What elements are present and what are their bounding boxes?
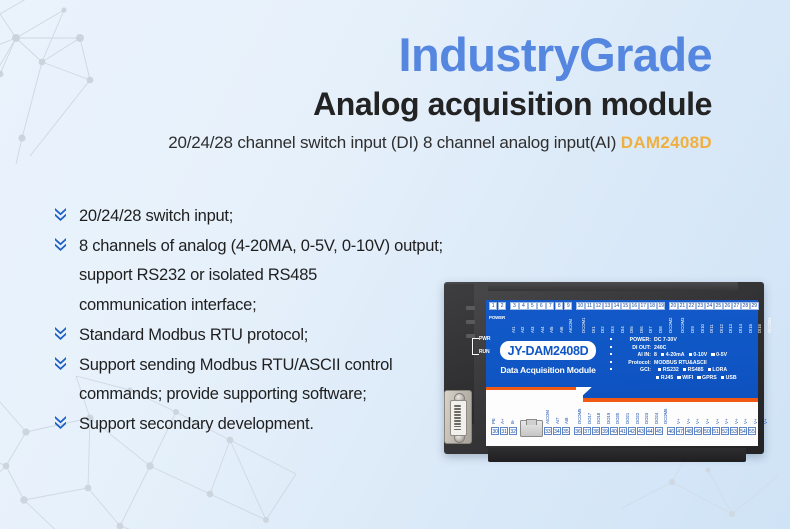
terminal-label: DI6 <box>639 311 648 333</box>
list-item: 8 channels of analog (4-20MA, 0-5V, 0-10… <box>52 233 472 260</box>
terminal-label: V+ <box>686 404 695 424</box>
list-item-continuation: commands; provide supporting software; <box>52 381 472 408</box>
terminal-label: AICOM <box>546 404 555 424</box>
spec-key: POWER: <box>615 337 651 343</box>
led-label-run: RUN <box>479 349 490 355</box>
spec-value: DC 7-30V <box>654 337 677 343</box>
terminal-number: 11 <box>585 302 593 310</box>
spec-key: DI OUT: <box>615 345 651 351</box>
terminal-number: 46 <box>667 427 675 435</box>
terminal-label: DO19 <box>606 404 615 424</box>
page-subtitle: Analog acquisition module <box>0 84 712 124</box>
terminal-number: 6 <box>537 302 545 310</box>
chevron-double-down-icon <box>52 233 69 254</box>
terminal-number: 15 <box>621 302 629 310</box>
terminal-number: 50 <box>703 427 711 435</box>
terminal-label: V+ <box>753 404 762 424</box>
terminal-number: 35 <box>562 427 570 435</box>
terminal-label: DCOM3 <box>681 311 690 333</box>
terminal-number: 14 <box>612 302 620 310</box>
spec-option-label: 0-10V <box>693 352 707 358</box>
terminal-number: 40 <box>610 427 618 435</box>
terminal-label: DI7 <box>649 311 658 333</box>
chevron-double-down-icon <box>52 411 69 432</box>
terminal-number: 37 <box>583 427 591 435</box>
spec-option-label: GPRS <box>702 375 717 381</box>
terminal-label: DI11 <box>710 311 719 333</box>
terminal-number: 24 <box>705 302 713 310</box>
feature-text: 8 channels of analog (4-20MA, 0-5V, 0-10… <box>79 233 443 260</box>
terminal-label: DI1 <box>591 311 600 333</box>
list-item: Support sending Modbus RTU/ASCII control <box>52 352 472 379</box>
checkbox-icon <box>683 368 686 371</box>
bullet-dot-icon <box>610 353 612 355</box>
terminal-label: DI5 <box>630 311 639 333</box>
product-device-image: 1234567891011121314151617181920212223242… <box>428 276 786 458</box>
list-item: Support secondary development. <box>52 411 472 438</box>
terminal-label: AI4 <box>540 311 549 333</box>
spec-row: POWER:DC 7-30V <box>610 337 760 343</box>
page-title: IndustryGrade <box>0 30 712 80</box>
led-label-pwr: PWR <box>479 336 490 342</box>
spec-key: Protocol: <box>615 360 651 366</box>
device-model-description: Data Acquisition Module <box>496 365 600 375</box>
terminal-number: 21 <box>678 302 686 310</box>
bullet-dot-icon <box>610 368 612 370</box>
terminal-label: DCOM2 <box>668 311 677 333</box>
device-spec-list: POWER:DC 7-30VDI OUT:240CAI IN:84-20mA0-… <box>610 337 760 383</box>
spec-option-label: RJ45 <box>661 375 673 381</box>
terminal-number: 4 <box>519 302 527 310</box>
chassis-vent-1 <box>466 306 475 310</box>
spec-option-label: USB <box>726 375 737 381</box>
terminal-label: DI10 <box>700 311 709 333</box>
top-terminal-labels: POWERAI1AI2AI3AI4AI5AI6AICOMDCOM1DI1DI2D… <box>489 311 776 333</box>
terminal-number: 8 <box>555 302 563 310</box>
tagline-model-number: DAM2408D <box>621 133 712 152</box>
terminal-label: DI4 <box>620 311 629 333</box>
terminal-number: 20 <box>669 302 677 310</box>
db9-serial-connector <box>444 390 472 444</box>
terminal-number: 36 <box>574 427 582 435</box>
terminal-number: 18 <box>648 302 656 310</box>
terminal-number: 39 <box>601 427 609 435</box>
terminal-number: 25 <box>714 302 722 310</box>
terminal-label: AICOM <box>569 311 578 333</box>
terminal-label: V+ <box>763 404 772 424</box>
terminal-number: 33 <box>544 427 552 435</box>
banner-headings: IndustryGrade Analog acquisition module … <box>0 30 712 153</box>
terminal-label: AI7 <box>555 404 564 424</box>
terminal-number: 31 <box>500 427 508 435</box>
list-item: Standard Modbus RTU protocol; <box>52 322 472 349</box>
spec-row: DI OUT:240C <box>610 345 760 351</box>
terminal-label: DI12 <box>719 311 728 333</box>
checkbox-icon <box>689 353 692 356</box>
terminal-number: 34 <box>553 427 561 435</box>
terminal-label: DI13 <box>729 311 738 333</box>
terminal-label: A+ <box>501 404 510 424</box>
terminal-number: 53 <box>730 427 738 435</box>
feature-text: Support sending Modbus RTU/ASCII control <box>79 352 392 379</box>
terminal-number: 16 <box>630 302 638 310</box>
terminal-label: DO22 <box>635 404 644 424</box>
db9-pins <box>454 405 463 430</box>
terminal-label: DCOM5 <box>578 404 587 424</box>
feature-text: communication interface; <box>79 292 256 319</box>
spec-option-label: RS232 <box>663 367 679 373</box>
terminal-number: 13 <box>603 302 611 310</box>
terminal-number: 1 <box>489 302 497 310</box>
terminal-label: V+ <box>677 404 686 424</box>
spec-key: GCI: <box>615 367 651 373</box>
terminal-label: AI3 <box>531 311 540 333</box>
banner-tagline: 20/24/28 channel switch input (DI) 8 cha… <box>0 133 712 153</box>
terminal-number: 19 <box>657 302 665 310</box>
terminal-number: 38 <box>592 427 600 435</box>
chevron-double-down-icon <box>52 203 69 224</box>
terminal-number: 12 <box>594 302 602 310</box>
terminal-number: 22 <box>687 302 695 310</box>
feature-text: support RS232 or isolated RS485 <box>79 262 317 289</box>
terminal-label: AI2 <box>521 311 530 333</box>
list-item-continuation: communication interface; <box>52 292 472 319</box>
terminal-label: V+ <box>705 404 714 424</box>
terminal-number: 5 <box>528 302 536 310</box>
terminal-label: AI8 <box>565 404 574 424</box>
spec-row: AI IN:84-20mA0-10V0-5V <box>610 352 760 358</box>
terminal-label: DI14 <box>738 311 747 333</box>
terminal-panel-notch <box>486 390 583 402</box>
terminal-label: V+ <box>696 404 705 424</box>
bullet-dot-icon <box>610 346 612 348</box>
feature-text: Standard Modbus RTU protocol; <box>79 322 308 349</box>
terminal-label: DI8 <box>658 311 667 333</box>
terminal-number: 47 <box>676 427 684 435</box>
spec-value: MODBUS RTU&ASCII <box>654 360 707 366</box>
terminal-label: DCOM1 <box>582 311 591 333</box>
feature-text: Support secondary development. <box>79 411 314 438</box>
terminal-number: 49 <box>694 427 702 435</box>
db9-pin-housing <box>450 400 467 436</box>
terminal-label: DCOM4 <box>767 311 776 333</box>
terminal-panel-diagonal <box>576 387 592 402</box>
spec-value: 8 <box>654 352 657 358</box>
terminal-number: 23 <box>696 302 704 310</box>
checkbox-icon <box>656 376 659 379</box>
terminal-number: 26 <box>723 302 731 310</box>
terminal-number: 27 <box>732 302 740 310</box>
led-bracket <box>472 338 479 355</box>
terminal-number: 9 <box>564 302 572 310</box>
terminal-label: V+ <box>715 404 724 424</box>
terminal-number: 48 <box>685 427 693 435</box>
tagline-text: 20/24/28 channel switch input (DI) 8 cha… <box>168 133 621 152</box>
device-chassis: 1234567891011121314151617181920212223242… <box>444 282 764 454</box>
terminal-label: B- <box>510 404 519 424</box>
terminal-label: POWER <box>489 311 498 333</box>
terminal-number: 30 <box>491 427 499 435</box>
terminal-number: 17 <box>639 302 647 310</box>
terminal-label: V+ <box>725 404 734 424</box>
chevron-double-down-icon <box>52 322 69 343</box>
feature-text: 20/24/28 switch input; <box>79 203 233 230</box>
terminal-label: DO18 <box>597 404 606 424</box>
spec-key: AI IN: <box>615 352 651 358</box>
spec-option-label: WIFI <box>682 375 693 381</box>
checkbox-icon <box>697 376 700 379</box>
spec-option-label: 0-5V <box>716 352 727 358</box>
feature-list: 20/24/28 switch input; 8 channels of ana… <box>52 203 472 441</box>
terminal-label: DI15 <box>748 311 757 333</box>
bullet-dot-icon <box>610 338 612 340</box>
terminal-number: 42 <box>628 427 636 435</box>
terminal-label: DI2 <box>601 311 610 333</box>
terminal-label: DI16 <box>758 311 767 333</box>
list-item: 20/24/28 switch input; <box>52 203 472 230</box>
terminal-label: V+ <box>744 404 753 424</box>
terminal-number: 54 <box>739 427 747 435</box>
checkbox-icon <box>658 368 661 371</box>
spec-row: Protocol:MODBUS RTU&ASCII <box>610 360 760 366</box>
chassis-vent-2 <box>466 320 475 324</box>
spec-row: GCI:RS232RS485LORA <box>610 367 760 373</box>
terminal-label: DCOM6 <box>664 404 673 424</box>
terminal-number: 55 <box>748 427 756 435</box>
terminal-label: DO21 <box>626 404 635 424</box>
spec-value: 240C <box>654 345 666 351</box>
spec-option-label: 4-20mA <box>666 352 685 358</box>
terminal-label: DO23 <box>645 404 654 424</box>
terminal-label: AI6 <box>559 311 568 333</box>
terminal-label: V+ <box>734 404 743 424</box>
terminal-label <box>499 311 508 333</box>
terminal-label: DO24 <box>654 404 663 424</box>
rj45-ethernet-port <box>520 420 543 437</box>
terminal-number: 44 <box>646 427 654 435</box>
terminal-label: DI3 <box>611 311 620 333</box>
terminal-number: 52 <box>721 427 729 435</box>
device-model-text: JY-DAM2408D <box>508 344 589 358</box>
terminal-label: DO20 <box>616 404 625 424</box>
device-model-badge: JY-DAM2408D <box>500 341 596 360</box>
spec-option-label: RS485 <box>688 367 704 373</box>
terminal-number: 10 <box>576 302 584 310</box>
top-terminal-numbers: 1234567891011121314151617181920212223242… <box>489 302 759 310</box>
bullet-dot-icon <box>610 361 612 363</box>
terminal-number: 7 <box>546 302 554 310</box>
device-mount-tab-bottom <box>488 448 746 462</box>
terminal-number: 43 <box>637 427 645 435</box>
terminal-label: DO17 <box>587 404 596 424</box>
checkbox-icon <box>711 353 714 356</box>
list-item-continuation: support RS232 or isolated RS485 <box>52 262 472 289</box>
terminal-number: 32 <box>509 427 517 435</box>
spec-option-label: LORA <box>712 367 727 373</box>
terminal-number: 41 <box>619 427 627 435</box>
terminal-number: 2 <box>498 302 506 310</box>
terminal-number: 28 <box>741 302 749 310</box>
checkbox-icon <box>721 376 724 379</box>
terminal-label: DI9 <box>690 311 699 333</box>
checkbox-icon <box>708 368 711 371</box>
product-banner: IndustryGrade Analog acquisition module … <box>0 0 790 529</box>
device-mount-tab-top <box>488 282 738 291</box>
terminal-number: 51 <box>712 427 720 435</box>
feature-text: commands; provide supporting software; <box>79 381 367 408</box>
chevron-double-down-icon <box>52 352 69 373</box>
terminal-number: 45 <box>655 427 663 435</box>
terminal-number: 29 <box>750 302 758 310</box>
terminal-number: 3 <box>510 302 518 310</box>
spec-row: RJ45WIFIGPRSUSB <box>610 375 760 381</box>
terminal-label: PE <box>491 404 500 424</box>
checkbox-icon <box>677 376 680 379</box>
checkbox-icon <box>661 353 664 356</box>
terminal-label: AI5 <box>550 311 559 333</box>
